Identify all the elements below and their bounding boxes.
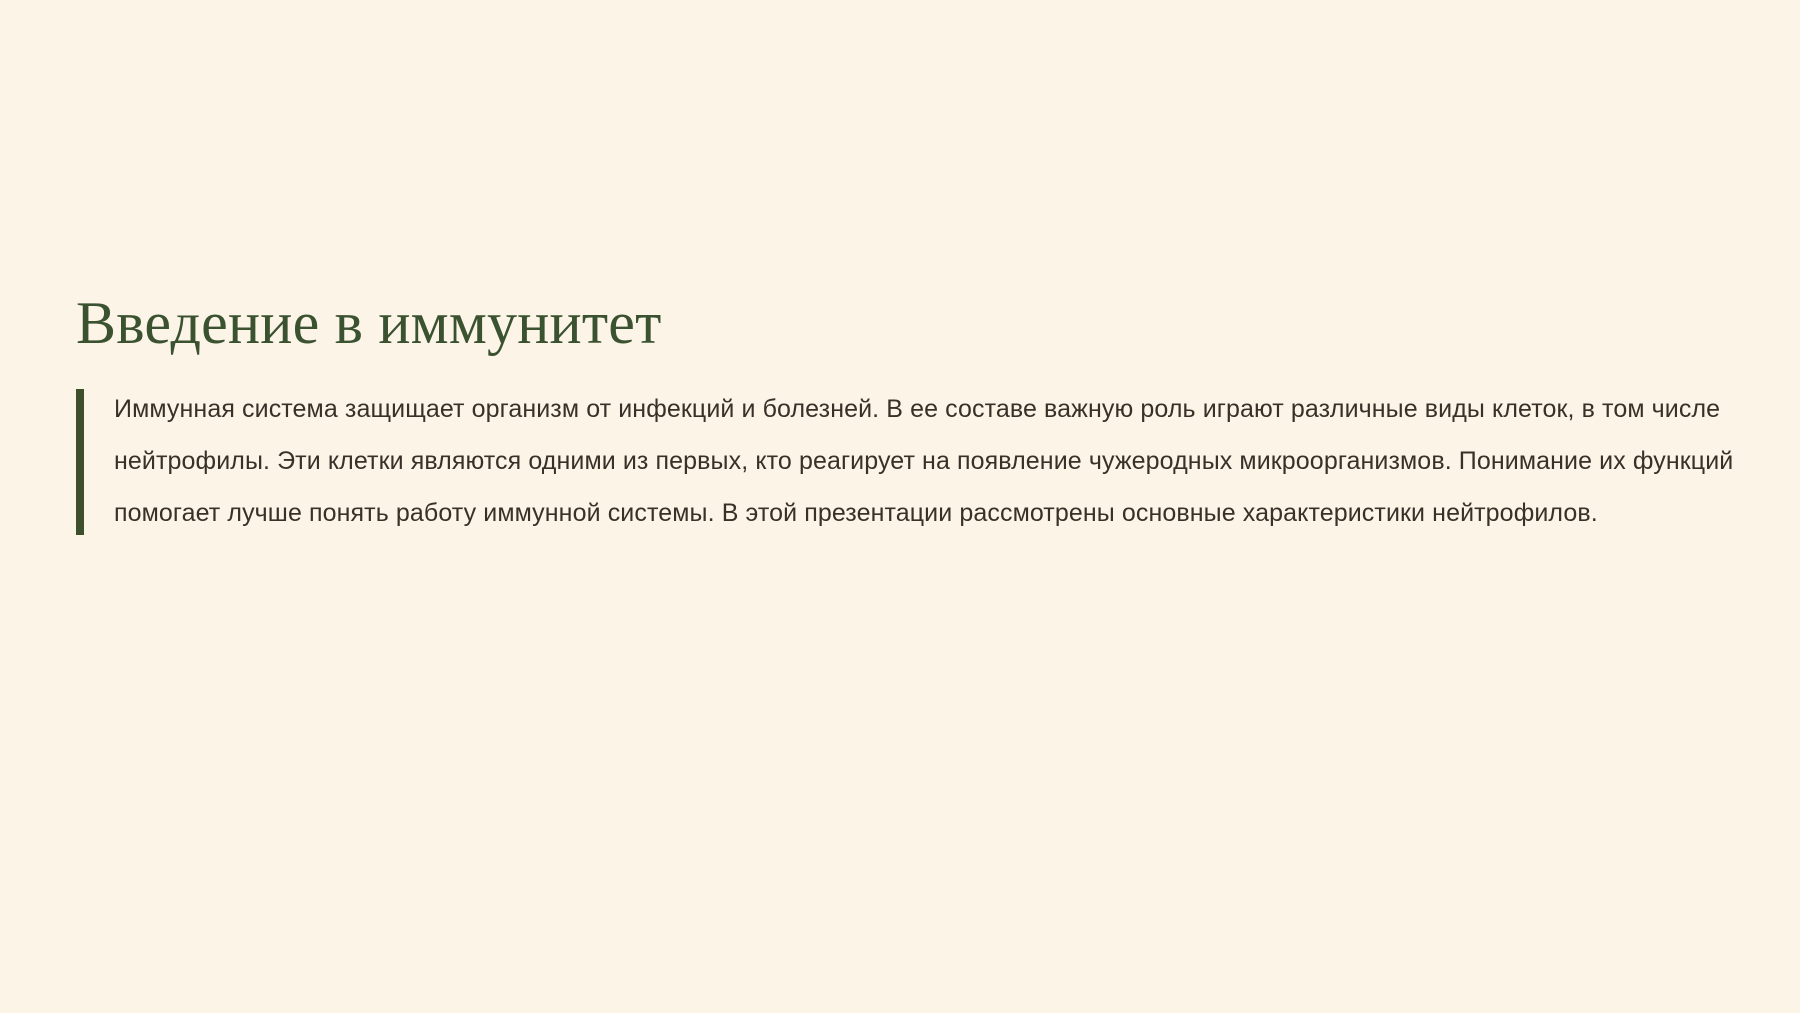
presentation-slide: Введение в иммунитет Иммунная система за…: [0, 0, 1800, 1013]
page-title: Введение в иммунитет: [76, 290, 1736, 357]
body-paragraph: Иммунная система защищает организм от ин…: [114, 383, 1734, 539]
slide-content-container: Введение в иммунитет Иммунная система за…: [76, 290, 1736, 539]
accent-bar: [76, 389, 84, 535]
body-text-block: Иммунная система защищает организм от ин…: [76, 383, 1736, 539]
